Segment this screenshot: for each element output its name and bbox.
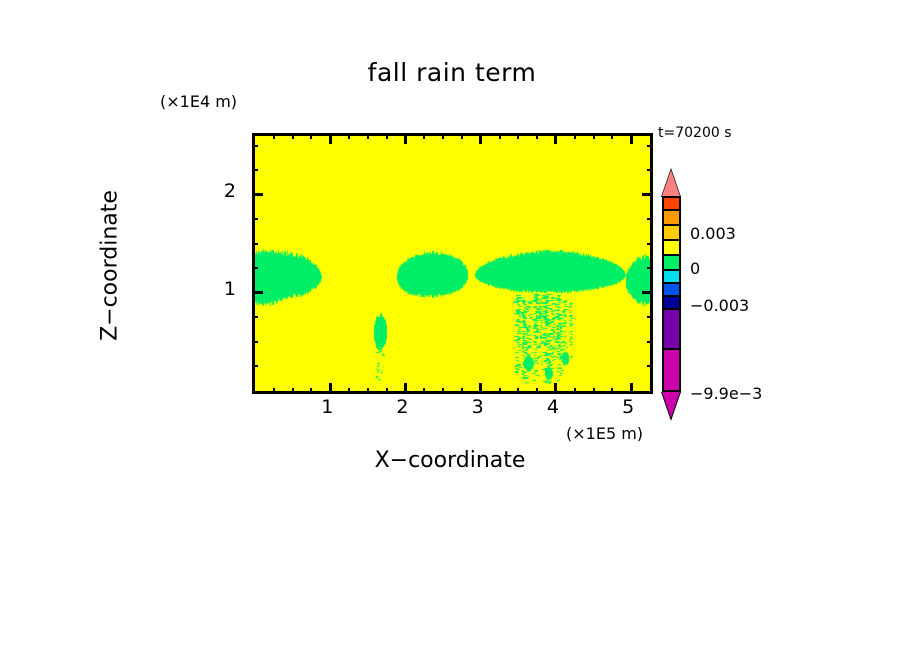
x-tick-label: 2 <box>382 396 422 418</box>
x-tick-minor <box>499 388 501 394</box>
x-tick-minor <box>461 388 463 394</box>
colorbar-band <box>662 196 681 211</box>
x-tick-minor <box>517 388 519 394</box>
x-tick-top-minor <box>611 133 613 139</box>
x-tick-top-minor <box>273 133 275 139</box>
colorbar-tick-label: 0 <box>690 259 700 278</box>
x-tick-label: 4 <box>533 396 573 418</box>
x-tick-minor <box>423 388 425 394</box>
y-tick-right-minor <box>647 145 653 147</box>
x-tick-top-major <box>479 133 482 144</box>
x-tick-minor <box>536 388 538 394</box>
x-axis-title: X−coordinate <box>252 448 648 473</box>
x-tick-major <box>329 383 332 394</box>
colorbar-band <box>662 241 681 256</box>
x-tick-minor <box>442 388 444 394</box>
plot-area <box>252 133 653 394</box>
y-tick-right-minor <box>647 316 653 318</box>
x-tick-label: 3 <box>458 396 498 418</box>
y-tick-right-major <box>642 291 653 294</box>
x-axis-unit-label: (×1E5 m) <box>566 424 643 443</box>
x-tick-minor <box>574 388 576 394</box>
x-tick-top-minor <box>499 133 501 139</box>
colorbar-band <box>662 226 681 241</box>
x-tick-minor <box>593 388 595 394</box>
y-tick-minor <box>252 267 258 269</box>
y-tick-right-minor <box>647 218 653 220</box>
y-tick-right-minor <box>647 341 653 343</box>
colorbar-band <box>662 310 681 350</box>
timestamp-label: t=70200 s <box>658 125 732 141</box>
y-tick-right-minor <box>647 243 653 245</box>
x-tick-top-major <box>630 133 633 144</box>
y-tick-right-major <box>642 193 653 196</box>
y-tick-label: 1 <box>196 278 236 300</box>
colorbar-band <box>662 271 681 284</box>
colorbar-tick-label: −0.003 <box>690 296 749 315</box>
x-tick-minor <box>292 388 294 394</box>
page-title: fall rain term <box>0 58 904 87</box>
x-tick-top-minor <box>292 133 294 139</box>
x-tick-top-minor <box>348 133 350 139</box>
colorbar-bottom-arrow <box>662 392 680 418</box>
x-tick-top-minor <box>574 133 576 139</box>
colorbar-band <box>662 256 681 271</box>
y-tick-minor <box>252 365 258 367</box>
contour-field-canvas <box>255 136 650 391</box>
colorbar-top-arrow <box>662 170 680 196</box>
y-tick-minor <box>252 169 258 171</box>
y-tick-major <box>252 291 263 294</box>
y-tick-right-minor <box>647 267 653 269</box>
y-tick-label: 2 <box>196 180 236 202</box>
y-tick-minor <box>252 316 258 318</box>
x-tick-top-minor <box>423 133 425 139</box>
x-tick-top-minor <box>442 133 444 139</box>
colorbar-band <box>662 297 681 310</box>
x-tick-major <box>630 383 633 394</box>
x-tick-label: 1 <box>307 396 347 418</box>
x-tick-top-major <box>329 133 332 144</box>
x-tick-top-minor <box>386 133 388 139</box>
x-tick-top-minor <box>517 133 519 139</box>
y-tick-minor <box>252 341 258 343</box>
y-tick-right-minor <box>647 365 653 367</box>
x-tick-top-minor <box>310 133 312 139</box>
x-tick-minor <box>386 388 388 394</box>
y-tick-minor <box>252 243 258 245</box>
x-tick-top-major <box>404 133 407 144</box>
x-tick-major <box>479 383 482 394</box>
colorbar-tick-label: −9.9e−3 <box>690 384 762 403</box>
z-axis-unit-label: (×1E4 m) <box>160 92 237 111</box>
colorbar: 0.0030−0.003−9.9e−3 <box>662 170 682 400</box>
x-tick-top-minor <box>536 133 538 139</box>
x-tick-label: 5 <box>608 396 648 418</box>
x-tick-minor <box>611 388 613 394</box>
x-tick-top-minor <box>461 133 463 139</box>
colorbar-tick-label: 0.003 <box>690 224 736 243</box>
x-tick-top-minor <box>367 133 369 139</box>
y-tick-major <box>252 193 263 196</box>
x-tick-minor <box>367 388 369 394</box>
x-tick-minor <box>310 388 312 394</box>
colorbar-band <box>662 350 681 392</box>
x-tick-top-minor <box>593 133 595 139</box>
colorbar-band <box>662 211 681 226</box>
y-axis-title: Z−coordinate <box>98 136 123 396</box>
y-tick-minor <box>252 145 258 147</box>
colorbar-band <box>662 284 681 297</box>
x-tick-major <box>554 383 557 394</box>
x-tick-top-major <box>554 133 557 144</box>
x-tick-minor <box>273 388 275 394</box>
y-tick-minor <box>252 218 258 220</box>
y-tick-right-minor <box>647 169 653 171</box>
x-tick-minor <box>348 388 350 394</box>
x-tick-major <box>404 383 407 394</box>
